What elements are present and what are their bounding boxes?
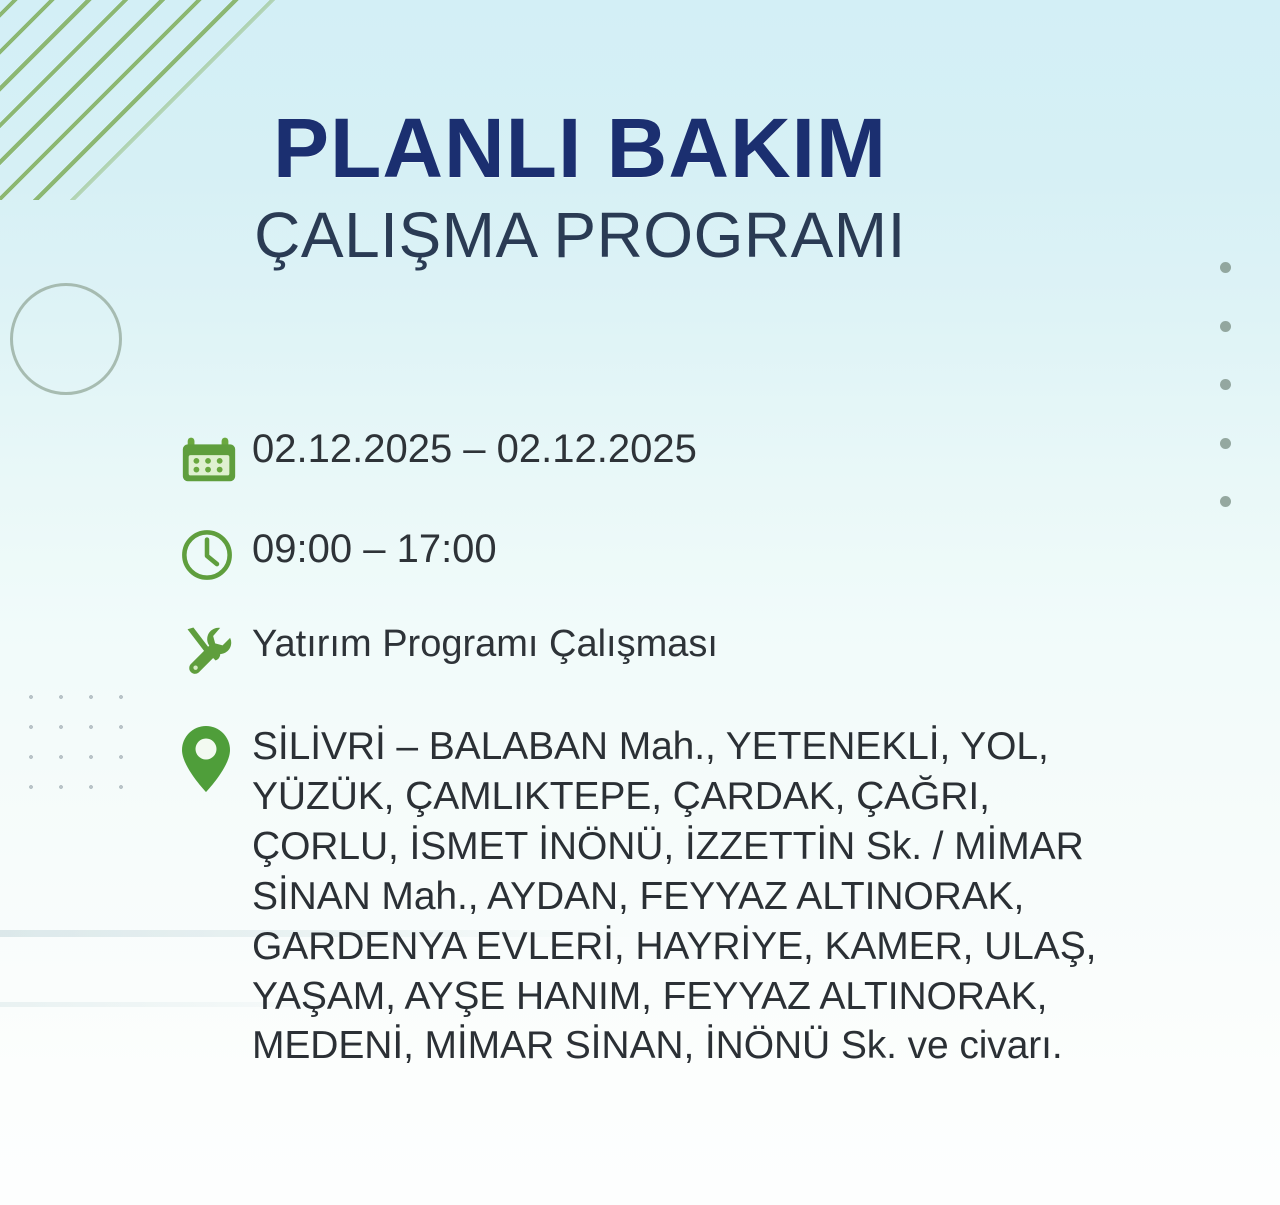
page-title: PLANLI BAKIM — [0, 108, 1280, 189]
info-row-work-type: Yatırım Programı Çalışması — [178, 620, 1238, 684]
poster-heading: PLANLI BAKIM ÇALIŞMA PROGRAMI — [0, 108, 1280, 267]
dot-grid-decoration — [10, 676, 130, 796]
dot-icon — [1220, 321, 1231, 332]
circle-outline-decoration — [10, 283, 122, 395]
planned-maintenance-poster: PLANLI BAKIM ÇALIŞMA PROGRAMI — [0, 0, 1280, 1205]
address-value: SİLİVRİ – BALABAN Mah., YETENEKLİ, YOL, … — [252, 718, 1212, 1071]
info-row-time: 09:00 – 17:00 — [178, 524, 1238, 588]
work-type-value: Yatırım Programı Çalışması — [252, 620, 1238, 665]
page-subtitle: ÇALIŞMA PROGRAMI — [0, 203, 1280, 267]
tools-icon — [178, 620, 252, 684]
date-range-value: 02.12.2025 – 02.12.2025 — [252, 424, 1238, 471]
dot-icon — [1220, 379, 1231, 390]
info-row-location: SİLİVRİ – BALABAN Mah., YETENEKLİ, YOL, … — [178, 718, 1238, 1071]
location-pin-icon — [178, 718, 252, 786]
calendar-icon — [178, 424, 252, 488]
info-row-date: 02.12.2025 – 02.12.2025 — [178, 424, 1238, 488]
info-list: 02.12.2025 – 02.12.2025 09:00 – 17:00 — [178, 424, 1238, 1097]
clock-icon — [178, 524, 252, 588]
time-range-value: 09:00 – 17:00 — [252, 524, 1238, 571]
